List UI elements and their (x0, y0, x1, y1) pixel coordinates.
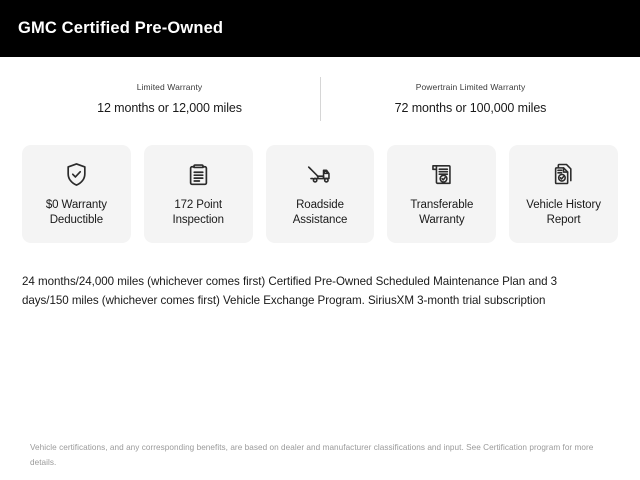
feature-card-transferable-warranty[interactable]: Transferable Warranty (387, 145, 496, 243)
page-header: GMC Certified Pre-Owned (0, 0, 640, 57)
shield-check-icon (63, 158, 90, 192)
feature-card-roadside-assistance[interactable]: Roadside Assistance (266, 145, 375, 243)
benefits-description: 24 months/24,000 miles (whichever comes … (0, 273, 620, 311)
documents-check-icon (550, 158, 577, 192)
page-title: GMC Certified Pre-Owned (18, 19, 223, 38)
feature-card-label: Roadside Assistance (293, 198, 348, 228)
feature-card-vehicle-history-report[interactable]: Vehicle History Report (509, 145, 618, 243)
feature-card-label: Vehicle History Report (526, 198, 601, 228)
feature-card-warranty-deductible[interactable]: $0 Warranty Deductible (22, 145, 131, 243)
warranty-powertrain: Powertrain Limited Warranty 72 months or… (321, 82, 621, 115)
feature-card-label: 172 Point Inspection (172, 198, 223, 228)
clipboard-icon (185, 158, 212, 192)
warranty-limited-value: 12 months or 12,000 miles (26, 101, 314, 116)
warranty-limited: Limited Warranty 12 months or 12,000 mil… (20, 82, 320, 115)
layout-spacer (0, 311, 640, 442)
feature-card-row: $0 Warranty Deductible 172 Point Inspect… (0, 145, 640, 243)
warranty-powertrain-value: 72 months or 100,000 miles (327, 101, 615, 116)
legal-disclaimer: Vehicle certifications, and any correspo… (30, 441, 610, 470)
tow-truck-icon (306, 158, 333, 192)
warranty-powertrain-label: Powertrain Limited Warranty (327, 82, 615, 92)
certificate-check-icon (428, 158, 455, 192)
feature-card-label: Transferable Warranty (410, 198, 473, 228)
warranty-limited-label: Limited Warranty (26, 82, 314, 92)
feature-card-point-inspection[interactable]: 172 Point Inspection (144, 145, 253, 243)
warranty-summary: Limited Warranty 12 months or 12,000 mil… (0, 57, 640, 135)
feature-card-label: $0 Warranty Deductible (46, 198, 107, 228)
cpo-benefits-panel: GMC Certified Pre-Owned Limited Warranty… (0, 0, 640, 480)
footer: Vehicle certifications, and any correspo… (0, 441, 640, 480)
